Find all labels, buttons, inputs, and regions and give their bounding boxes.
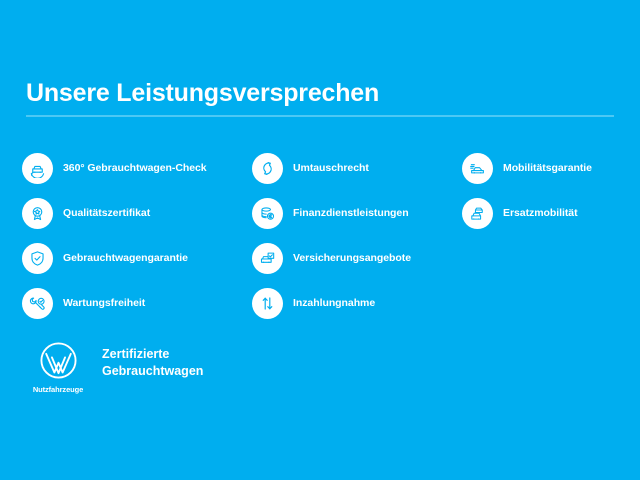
promise-label: Wartungsfreiheit <box>63 297 145 309</box>
promise-item-used-car-warranty[interactable]: Gebrauchtwagengarantie <box>22 236 252 281</box>
title-block: Unsere Leistungsversprechen <box>26 80 614 117</box>
promise-label: Umtauschrecht <box>293 162 369 174</box>
promise-item-trade-in[interactable]: Inzahlungnahme <box>252 281 462 326</box>
brand-claim-line-2: Gebrauchtwagen <box>102 363 203 380</box>
promise-label: Finanzdienstleistungen <box>293 207 409 219</box>
award-rosette-icon <box>22 198 53 229</box>
wrench-check-icon <box>22 288 53 319</box>
tow-truck-icon <box>462 153 493 184</box>
volkswagen-logo-icon <box>38 340 79 381</box>
promise-item-exchange-right[interactable]: Umtauschrecht <box>252 146 462 191</box>
promise-label: Inzahlungnahme <box>293 297 375 309</box>
coins-euro-icon <box>252 198 283 229</box>
vw-mark-wrap: Nutzfahrzeuge <box>24 340 92 394</box>
brand-claim: Zertifizierte Gebrauchtwagen <box>102 346 203 380</box>
brand-claim-line-1: Zertifizierte <box>102 346 203 363</box>
promises-column-3: Mobilitätsgarantie Ersatzmobilität <box>462 146 622 236</box>
promise-label: Gebrauchtwagengarantie <box>63 252 188 264</box>
car-360-check-icon <box>22 153 53 184</box>
two-cars-icon <box>462 198 493 229</box>
promises-grid: 360° Gebrauchtwagen-Check Qualitätszerti… <box>22 146 622 326</box>
promise-item-insurance-offers[interactable]: Versicherungsangebote <box>252 236 462 281</box>
promise-item-maintenance-free[interactable]: Wartungsfreiheit <box>22 281 252 326</box>
title-underline-divider <box>26 115 614 117</box>
brand-lockup: Nutzfahrzeuge Zertifizierte Gebrauchtwag… <box>24 340 203 394</box>
promise-item-quality-certificate[interactable]: Qualitätszertifikat <box>22 191 252 236</box>
promise-item-financial-services[interactable]: Finanzdienstleistungen <box>252 191 462 236</box>
exchange-arrows-icon <box>252 153 283 184</box>
up-down-arrows-icon <box>252 288 283 319</box>
promise-label: 360° Gebrauchtwagen-Check <box>63 162 207 174</box>
slide-root: Unsere Leistungsversprechen 360° Gebrauc <box>0 0 640 480</box>
page-title: Unsere Leistungsversprechen <box>26 80 614 108</box>
promise-label: Versicherungsangebote <box>293 252 411 264</box>
shield-check-icon <box>22 243 53 274</box>
car-document-check-icon <box>252 243 283 274</box>
promise-item-replacement-mobility[interactable]: Ersatzmobilität <box>462 191 622 236</box>
promise-label: Ersatzmobilität <box>503 207 578 219</box>
promises-column-1: 360° Gebrauchtwagen-Check Qualitätszerti… <box>22 146 252 326</box>
promises-column-2: Umtauschrecht Finanzdienstleistungen <box>252 146 462 326</box>
promise-item-mobility-guarantee[interactable]: Mobilitätsgarantie <box>462 146 622 191</box>
promise-item-360-check[interactable]: 360° Gebrauchtwagen-Check <box>22 146 252 191</box>
vw-subbrand-label: Nutzfahrzeuge <box>33 385 83 394</box>
promise-label: Mobilitätsgarantie <box>503 162 592 174</box>
promise-label: Qualitätszertifikat <box>63 207 150 219</box>
